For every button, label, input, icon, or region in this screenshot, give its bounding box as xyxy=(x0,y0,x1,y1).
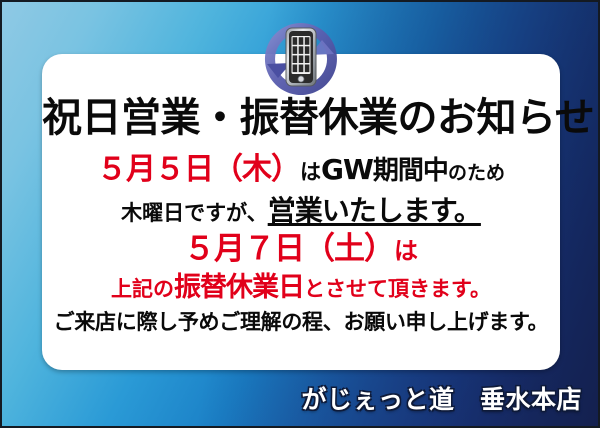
open-emphasis: 営業いたします。 xyxy=(268,194,481,227)
notice-title: 祝日営業・振替休業のお知らせ xyxy=(42,98,560,138)
smartphone-refresh-logo xyxy=(258,16,344,102)
store-name: がじぇっと道 垂水本店 xyxy=(301,380,582,416)
notice-line-may7: ５月７日（土）は xyxy=(42,234,560,265)
reason-tail: のため xyxy=(448,162,505,184)
notice-line-apology: ご来店に際し予めご理解の程、お願い申し上げます。 xyxy=(42,312,560,333)
notice-body: 祝日営業・振替休業のお知らせ ５月５日（木）はGW期間中のため 木曜日ですが、営… xyxy=(42,98,560,333)
logo-svg xyxy=(258,16,344,102)
gw-label: GW xyxy=(321,153,373,186)
notice-line-closed: 上記の振替休業日とさせて頂きます。 xyxy=(42,274,560,301)
closed-prefix: 上記の xyxy=(111,277,174,301)
closed-suffix: とさせて頂きます。 xyxy=(304,277,491,301)
notice-line-gw: ５月５日（木）はGW期間中のため xyxy=(42,155,560,185)
notice-poster: 祝日営業・振替休業のお知らせ ５月５日（木）はGW期間中のため 木曜日ですが、営… xyxy=(0,0,600,428)
period-label: 期間中 xyxy=(373,156,448,186)
particle-wa-1: は xyxy=(300,160,321,184)
closed-emphasis: 振替休業日 xyxy=(174,272,304,303)
date-may-5: ５月５日（木） xyxy=(97,152,300,187)
thursday-prefix: 木曜日ですが、 xyxy=(121,201,268,225)
date-may-7: ５月７日（土） xyxy=(184,231,394,267)
smartphone-icon xyxy=(286,28,316,86)
particle-wa-2: は xyxy=(394,237,418,265)
notice-line-open: 木曜日ですが、営業いたします。 xyxy=(42,197,560,225)
